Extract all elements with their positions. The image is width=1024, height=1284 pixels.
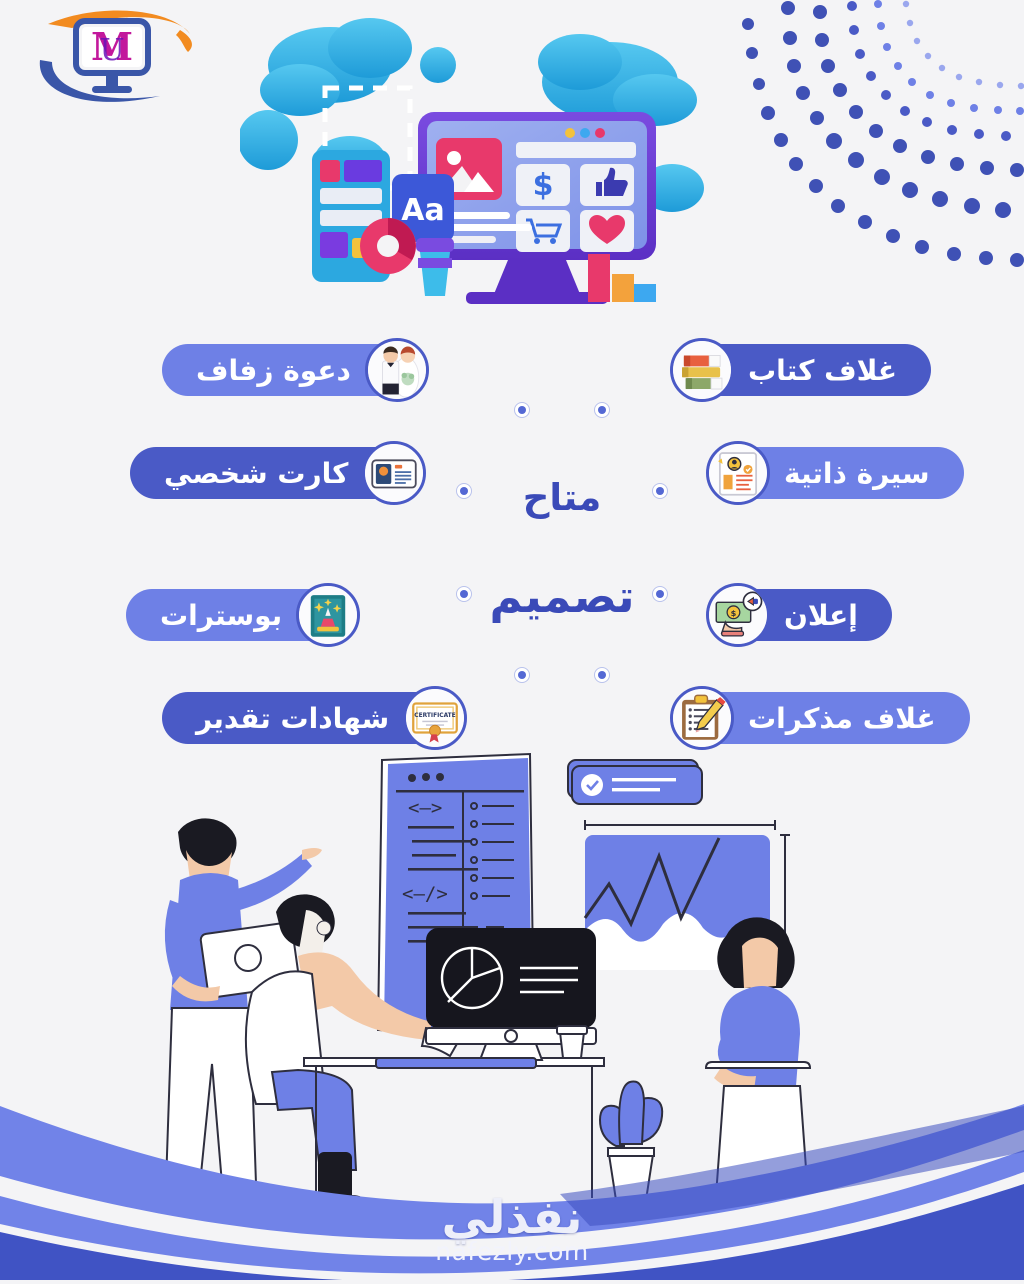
service-pill[interactable]: دعوة زفاف (162, 344, 423, 396)
infographic-canvas: M U (0, 0, 1024, 1280)
connector-dot-6 (652, 586, 668, 602)
service-label: دعوة زفاف (196, 354, 351, 387)
footer-brand[interactable]: نفذلي nafezly.com (0, 1193, 1024, 1266)
code-tag-top: <—> (408, 797, 442, 819)
svg-text:$: $ (533, 168, 554, 203)
monitor-m-logo-icon: M U (30, 8, 210, 118)
service-pill[interactable]: غلاف مذكرات (676, 692, 970, 744)
center-word-available: متاح (462, 476, 662, 519)
certificate-badge-text: CERTIFICATE (414, 713, 455, 719)
service-item-posters[interactable]: بوسترات (126, 585, 354, 645)
service-item-notebook-cover[interactable]: غلاف مذكرات (676, 688, 970, 748)
connector-dot-2 (594, 402, 610, 418)
service-pill[interactable]: شهادات تقدير CERTIFICATE (162, 692, 461, 744)
dot-arc-decoration (734, 0, 1024, 290)
connector-dot-3 (456, 483, 472, 499)
wedding-couple-icon (365, 338, 429, 402)
service-item-resume[interactable]: سيرة ذاتية (712, 443, 964, 503)
service-label: غلاف مذكرات (748, 702, 936, 735)
service-label: غلاف كتاب (748, 354, 897, 387)
service-label: بوسترات (160, 599, 282, 632)
service-pill[interactable]: سيرة ذاتية (712, 447, 964, 499)
center-word-design: تصميم (462, 570, 662, 623)
service-item-wedding-invitation[interactable]: دعوة زفاف (162, 340, 423, 400)
service-item-book-cover[interactable]: غلاف كتاب (676, 340, 931, 400)
service-label: شهادات تقدير (196, 702, 389, 735)
graphic-design-3d-illustration: $ Aa (240, 0, 710, 310)
code-tag-bottom: <—/> (402, 883, 448, 905)
poster-icon (296, 583, 360, 647)
connector-dot-5 (456, 586, 472, 602)
service-pill[interactable]: كارت شخصي (130, 447, 420, 499)
connector-dot-8 (594, 667, 610, 683)
service-pill[interactable]: بوسترات (126, 589, 354, 641)
notification-card (568, 760, 702, 804)
svg-text:U: U (99, 33, 124, 68)
service-label: سيرة ذاتية (784, 457, 930, 490)
brand-logo[interactable]: M U (30, 8, 210, 118)
connector-dot-1 (514, 402, 530, 418)
resume-icon (706, 441, 770, 505)
id-card-icon (362, 441, 426, 505)
service-item-certificates[interactable]: شهادات تقدير CERTIFICATE (162, 688, 461, 748)
svg-text:Aa: Aa (401, 193, 444, 228)
book-stack-icon (670, 338, 734, 402)
brand-name-arabic: نفذلي (0, 1193, 1024, 1241)
service-item-advertisement[interactable]: $ إعلان (712, 585, 892, 645)
connector-dot-4 (652, 483, 668, 499)
service-item-personal-card[interactable]: كارت شخصي (130, 443, 420, 503)
connector-dot-7 (514, 667, 530, 683)
service-pill[interactable]: غلاف كتاب (676, 344, 931, 396)
service-label: كارت شخصي (164, 457, 348, 490)
svg-text:$: $ (731, 608, 737, 618)
brand-website-url: nafezly.com (0, 1237, 1024, 1266)
service-pill[interactable]: $ إعلان (712, 589, 892, 641)
service-label: إعلان (784, 599, 858, 632)
money-megaphone-icon: $ (706, 583, 770, 647)
